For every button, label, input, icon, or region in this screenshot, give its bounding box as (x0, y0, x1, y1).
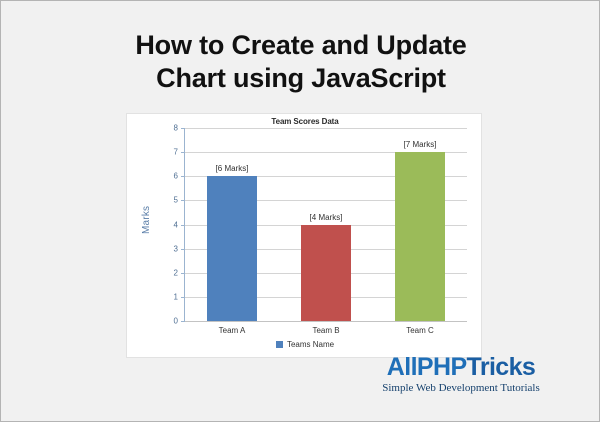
x-axis-tick-label: Team C (406, 326, 434, 335)
logo-tagline: Simple Web Development Tutorials (361, 381, 561, 395)
y-axis-tick-label: 3 (174, 244, 178, 253)
bar-slot: [7 Marks]Team C (395, 128, 445, 321)
y-axis-tick-label: 2 (174, 268, 178, 277)
y-axis-tick-label: 5 (174, 196, 178, 205)
plot-area: 012345678 [6 Marks]Team A[4 Marks]Team B… (185, 128, 467, 321)
y-axis-tick (181, 321, 185, 322)
y-axis-tick-label: 0 (174, 317, 178, 326)
x-axis-tick-label: Team B (312, 326, 339, 335)
y-axis-tick-label: 7 (174, 148, 178, 157)
page-root: How to Create and Update Chart using Jav… (0, 0, 600, 422)
bar-value-label: [6 Marks] (216, 164, 249, 173)
bar-value-label: [7 Marks] (404, 140, 437, 149)
bar-slot: [6 Marks]Team A (207, 128, 257, 321)
bar[interactable]: [6 Marks] (207, 176, 257, 321)
bar-value-label: [4 Marks] (310, 213, 343, 222)
y-axis-label: Marks (141, 206, 152, 234)
x-axis-tick-label: Team A (219, 326, 246, 335)
y-axis-tick (181, 297, 185, 298)
y-axis-tick-label: 8 (174, 124, 178, 133)
site-logo[interactable]: AllPHPTricks Simple Web Development Tuto… (361, 353, 561, 395)
page-title-line-2: Chart using JavaScript (1, 62, 600, 95)
gridline (185, 321, 467, 322)
y-axis-tick (181, 200, 185, 201)
bar-slot: [4 Marks]Team B (301, 128, 351, 321)
y-axis-tick (181, 273, 185, 274)
legend-label: Teams Name (287, 340, 334, 349)
bar[interactable]: [7 Marks] (395, 152, 445, 321)
page-title: How to Create and Update Chart using Jav… (1, 29, 600, 95)
legend-swatch-icon (276, 341, 283, 348)
y-axis-tick-label: 4 (174, 220, 178, 229)
bar[interactable]: [4 Marks] (301, 225, 351, 322)
legend-item[interactable]: Teams Name (276, 340, 334, 349)
y-axis-tick (181, 152, 185, 153)
y-axis-tick (181, 249, 185, 250)
y-axis-tick (181, 176, 185, 177)
chart-legend: Teams Name (127, 340, 483, 349)
chart-card: Team Scores Data Marks 012345678 [6 Mark… (126, 113, 482, 358)
y-axis-tick (181, 225, 185, 226)
y-axis-tick-label: 6 (174, 172, 178, 181)
y-axis-tick-label: 1 (174, 292, 178, 301)
y-axis-tick (181, 128, 185, 129)
logo-word-part-1: AllPHP (387, 353, 467, 381)
logo-word-part-2: Tricks (467, 353, 536, 381)
chart-title: Team Scores Data (127, 117, 483, 126)
page-title-line-1: How to Create and Update (1, 29, 600, 62)
logo-wordmark: AllPHPTricks (361, 353, 561, 381)
